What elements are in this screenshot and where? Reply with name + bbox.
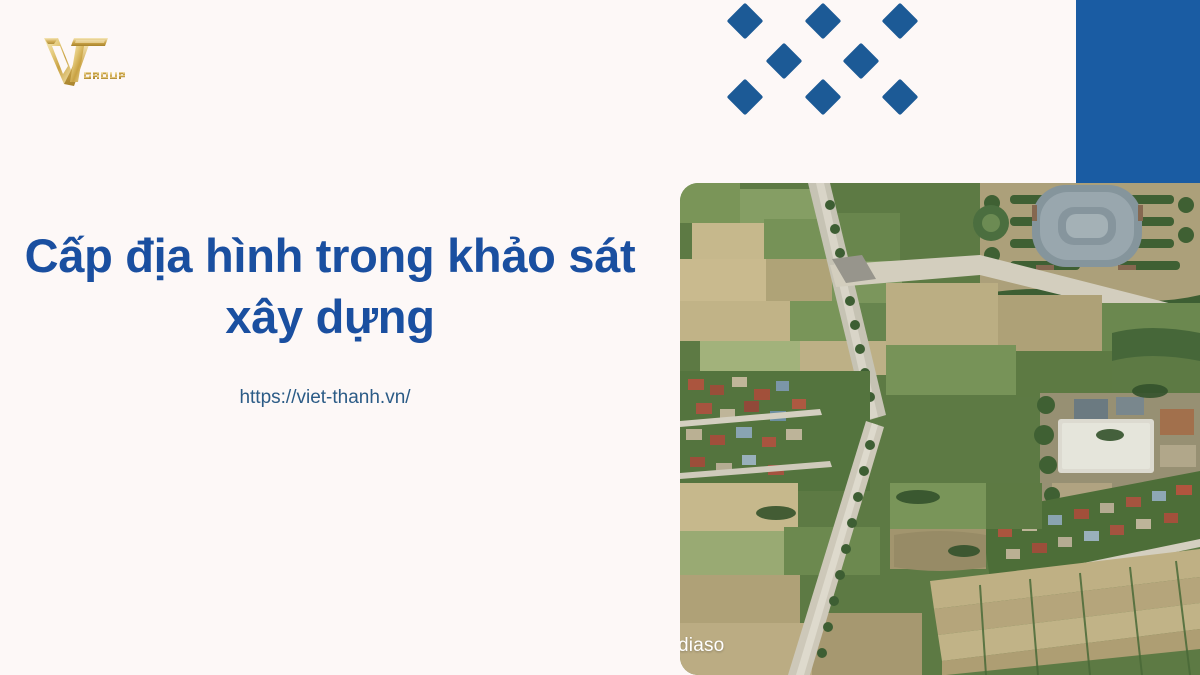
vt-group-logo-icon <box>38 32 130 90</box>
blue-accent-block <box>1076 0 1200 184</box>
satellite-photo: diaso <box>680 183 1200 675</box>
slide-canvas: Cấp địa hình trong khảo sát xây dựng htt… <box>0 0 1200 675</box>
diamond-icon <box>805 3 842 40</box>
diamond-icon <box>766 43 803 80</box>
diamond-icon <box>882 3 919 40</box>
diamond-icon <box>882 79 919 116</box>
logo-wordmark <box>84 72 125 79</box>
diamond-icon <box>843 43 880 80</box>
page-title: Cấp địa hình trong khảo sát xây dựng <box>0 226 660 346</box>
photo-watermark: diaso <box>680 635 724 657</box>
vt-group-logo <box>38 32 130 90</box>
satellite-photo-image <box>680 183 1200 675</box>
page-title-line-2: xây dựng <box>225 290 434 343</box>
diamond-icon <box>727 3 764 40</box>
site-url[interactable]: https://viet-thanh.vn/ <box>0 387 650 409</box>
page-title-line-1: Cấp địa hình trong khảo sát <box>25 229 636 282</box>
diamond-icon <box>805 79 842 116</box>
diamond-pattern-decoration <box>726 0 922 118</box>
diamond-icon <box>727 79 764 116</box>
